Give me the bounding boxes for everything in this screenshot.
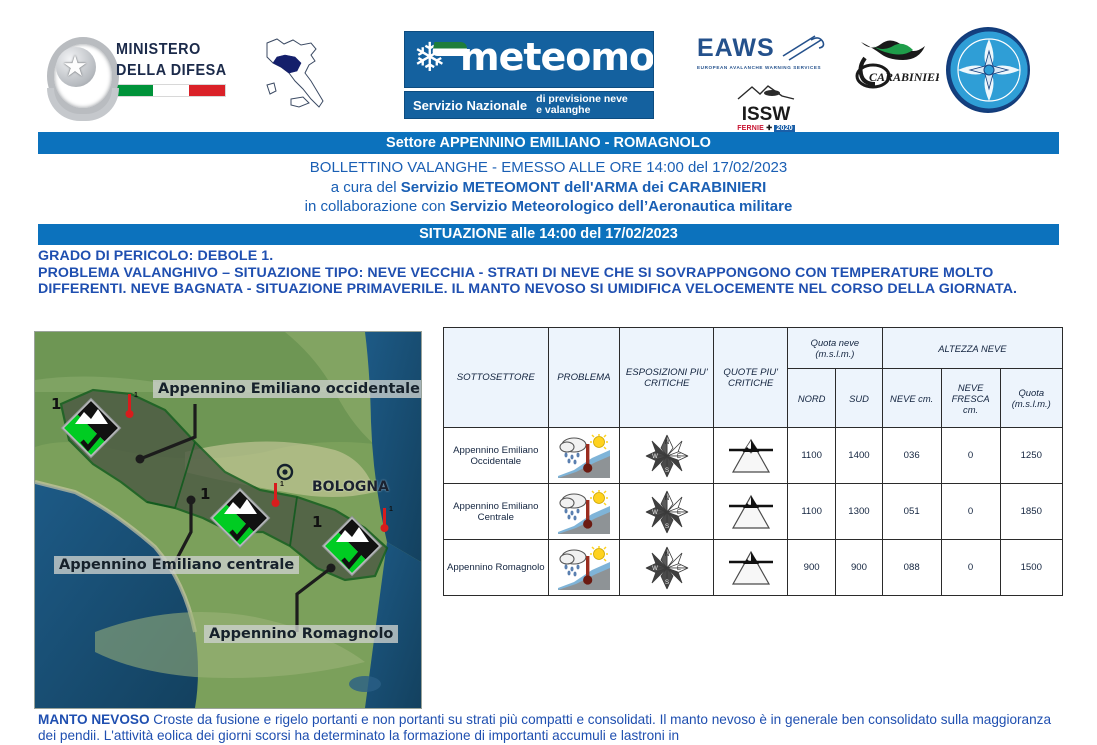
bulletin-subtitle: BOLLETTINO VALANGHE - EMESSO ALLE ORE 14… <box>38 158 1059 217</box>
servizio-nazionale-text: Servizio Nazionale <box>405 98 527 113</box>
th-sottosettore: SOTTOSETTORE <box>444 328 549 428</box>
table-row: Appennino Emiliano Occidentale <box>444 428 1063 484</box>
carabinieri-flame-icon: CARABINIERI <box>843 36 939 108</box>
situation-banner: SITUAZIONE alle 14:00 del 17/02/2023 <box>38 224 1059 245</box>
danger-level-romagnolo: 1 <box>312 513 322 531</box>
th-problema: PROBLEMA <box>548 328 620 428</box>
rain-sun-thermometer-slope-icon <box>558 434 610 478</box>
meteomont-logo: ❄ meteomont Servizio Nazionale di previs… <box>404 33 652 117</box>
svg-text:N: N <box>665 440 669 446</box>
mountain-above-line-icon <box>725 492 777 532</box>
map-label-centrale: Appennino Emiliano centrale <box>54 556 299 574</box>
svg-text:S: S <box>665 524 669 530</box>
cell-esposizioni: N E S W <box>620 428 714 484</box>
issw-mountain-icon <box>734 84 798 100</box>
cell-quote <box>714 428 788 484</box>
th-quota-neve: Quota neve (m.s.l.m.) <box>788 328 883 369</box>
aeronautica-militare-logo <box>946 28 1030 112</box>
rain-sun-thermometer-slope-icon <box>558 490 610 534</box>
cell-quote <box>714 540 788 596</box>
cell-nord: 1100 <box>788 428 836 484</box>
svg-text:W: W <box>652 510 658 516</box>
issw-logo: ISSW FERNIE ✚ 2020 <box>722 84 810 122</box>
thermometer-value-romagnolo: 1 <box>389 506 393 513</box>
meteomont-wordmark: meteomont <box>460 35 654 79</box>
thermometer-value-centrale: 1 <box>280 481 284 488</box>
ministero-line2: DELLA DIFESA <box>116 63 227 79</box>
subtitle-line3: in collaborazione con Servizio Meteorolo… <box>38 197 1059 217</box>
avalanche-problem-line: PROBLEMA VALANGHIVO – SITUAZIONE TIPO: N… <box>38 265 1068 298</box>
cell-neve-fresca: 0 <box>941 484 1000 540</box>
danger-marker-romagnolo[interactable]: 1 <box>321 515 383 577</box>
ministero-della-difesa-logo: ★ MINISTERO DELLA DIFESA <box>45 32 239 106</box>
map-label-romagnolo: Appennino Romagnolo <box>204 625 398 643</box>
svg-text:E: E <box>677 454 681 460</box>
eaws-logo: EAWS EUROPEAN AVALANCHE WARNING SERVICES <box>697 34 825 82</box>
cell-problema <box>548 484 620 540</box>
svg-text:S: S <box>665 580 669 586</box>
cell-neve-cm: 036 <box>882 428 941 484</box>
danger-level-centrale: 1 <box>200 485 210 503</box>
sector-banner: Settore APPENNINO EMILIANO - ROMAGNOLO <box>38 132 1059 154</box>
danger-marker-centrale[interactable]: 1 <box>209 487 271 549</box>
rain-sun-thermometer-slope-icon <box>558 546 610 590</box>
mountain-above-line-icon <box>725 436 777 476</box>
th-nord: NORD <box>788 369 836 428</box>
danger-marker-occidentale[interactable]: 1 <box>60 397 122 459</box>
carabinieri-logo: CARABINIERI <box>843 36 939 108</box>
issw-location: FERNIE <box>737 125 764 132</box>
cell-sud: 1300 <box>836 484 883 540</box>
svg-text:W: W <box>652 454 658 460</box>
cell-quota: 1850 <box>1000 484 1062 540</box>
cell-quota: 1500 <box>1000 540 1062 596</box>
issw-year: 2020 <box>774 125 794 132</box>
italian-flag-icon <box>116 84 226 97</box>
svg-text:N: N <box>665 552 669 558</box>
th-altezza-neve: ALTEZZA NEVE <box>882 328 1062 369</box>
italy-map-icon <box>253 33 335 111</box>
danger-diamond-icon <box>209 487 271 549</box>
thermometer-value-occidentale: 1 <box>134 392 138 399</box>
eaws-subtitle: EUROPEAN AVALANCHE WARNING SERVICES <box>697 65 825 70</box>
cell-sottosettore: Appennino Emiliano Centrale <box>444 484 549 540</box>
aeronautica-disc-icon <box>946 27 1030 113</box>
thermometer-occidentale: 1 <box>125 393 137 419</box>
manto-nevoso-text: Croste da fusione e rigelo portanti e no… <box>38 712 1051 743</box>
danger-diamond-icon <box>60 397 122 459</box>
map-city-bologna: BOLOGNA <box>312 479 389 495</box>
previsione-line2: e valanghe <box>536 104 590 116</box>
manto-nevoso-title: MANTO NEVOSO <box>38 712 150 727</box>
cell-esposizioni: N E S W <box>620 540 714 596</box>
cell-nord: 900 <box>788 540 836 596</box>
table-row: Appennino Romagnolo <box>444 540 1063 596</box>
svg-text:E: E <box>677 510 681 516</box>
ministero-line1: MINISTERO <box>116 42 227 58</box>
sector-map[interactable]: BOLOGNA Appennino Emiliano occidentale A… <box>34 331 422 709</box>
th-esposizioni: ESPOSIZIONI PIU' CRITICHE <box>620 328 714 428</box>
cell-sud: 1400 <box>836 428 883 484</box>
cell-neve-cm: 051 <box>882 484 941 540</box>
cell-sottosettore: Appennino Emiliano Occidentale <box>444 428 549 484</box>
cell-problema <box>548 540 620 596</box>
situation-text: GRADO DI PERICOLO: DEBOLE 1. PROBLEMA VA… <box>38 248 1068 298</box>
issw-wordmark: ISSW <box>734 105 798 124</box>
sector-data-table: SOTTOSETTORE PROBLEMA ESPOSIZIONI PIU' C… <box>443 327 1063 596</box>
th-neve-cm: NEVE cm. <box>882 369 941 428</box>
compass-rose-icon: N E S W <box>645 434 689 478</box>
table-row: Appennino Emiliano Centrale <box>444 484 1063 540</box>
thermometer-centrale: 1 <box>271 482 283 508</box>
cell-sud: 900 <box>836 540 883 596</box>
map-label-occidentale: Appennino Emiliano occidentale <box>153 380 422 398</box>
th-neve-fresca: NEVE FRESCA cm. <box>941 369 1000 428</box>
svg-text:N: N <box>665 496 669 502</box>
cell-neve-fresca: 0 <box>941 540 1000 596</box>
table-header-row-1: SOTTOSETTORE PROBLEMA ESPOSIZIONI PIU' C… <box>444 328 1063 369</box>
manto-nevoso-section: MANTO NEVOSO Croste da fusione e rigelo … <box>38 712 1068 744</box>
eaws-wordmark: EAWS <box>697 34 775 62</box>
subtitle-line1: BOLLETTINO VALANGHE - EMESSO ALLE ORE 14… <box>38 158 1059 178</box>
danger-level-line: GRADO DI PERICOLO: DEBOLE 1. <box>38 248 1068 265</box>
cell-esposizioni: N E S W <box>620 484 714 540</box>
danger-diamond-icon <box>321 515 383 577</box>
carabinieri-wordmark: CARABINIERI <box>869 70 939 84</box>
subtitle-line2: a cura del Servizio METEOMONT dell'ARMA … <box>38 178 1059 198</box>
mountain-above-line-icon <box>725 548 777 588</box>
compass-rose-icon: N E S W <box>645 490 689 534</box>
svg-text:W: W <box>652 566 658 572</box>
th-quote: QUOTE PIU' CRITICHE <box>714 328 788 428</box>
republic-emblem-icon: ★ <box>45 32 107 106</box>
cell-neve-fresca: 0 <box>941 428 1000 484</box>
cell-nord: 1100 <box>788 484 836 540</box>
danger-level-occidentale: 1 <box>51 395 61 413</box>
svg-text:S: S <box>665 468 669 474</box>
compass-rose-icon: N E S W <box>645 546 689 590</box>
cell-quote <box>714 484 788 540</box>
cell-neve-cm: 088 <box>882 540 941 596</box>
italy-map-logo <box>253 33 335 111</box>
bulletin-page: ★ MINISTERO DELLA DIFESA ❄ <box>0 0 1097 745</box>
th-sud: SUD <box>836 369 883 428</box>
cell-quota: 1250 <box>1000 428 1062 484</box>
cell-problema <box>548 428 620 484</box>
cell-sottosettore: Appennino Romagnolo <box>444 540 549 596</box>
thermometer-romagnolo: 1 <box>380 507 392 533</box>
logo-bar: ★ MINISTERO DELLA DIFESA ❄ <box>0 0 1097 124</box>
skier-swoosh-icon <box>781 34 827 64</box>
svg-text:E: E <box>677 566 681 572</box>
th-quota-msl: Quota (m.s.l.m.) <box>1000 369 1062 428</box>
